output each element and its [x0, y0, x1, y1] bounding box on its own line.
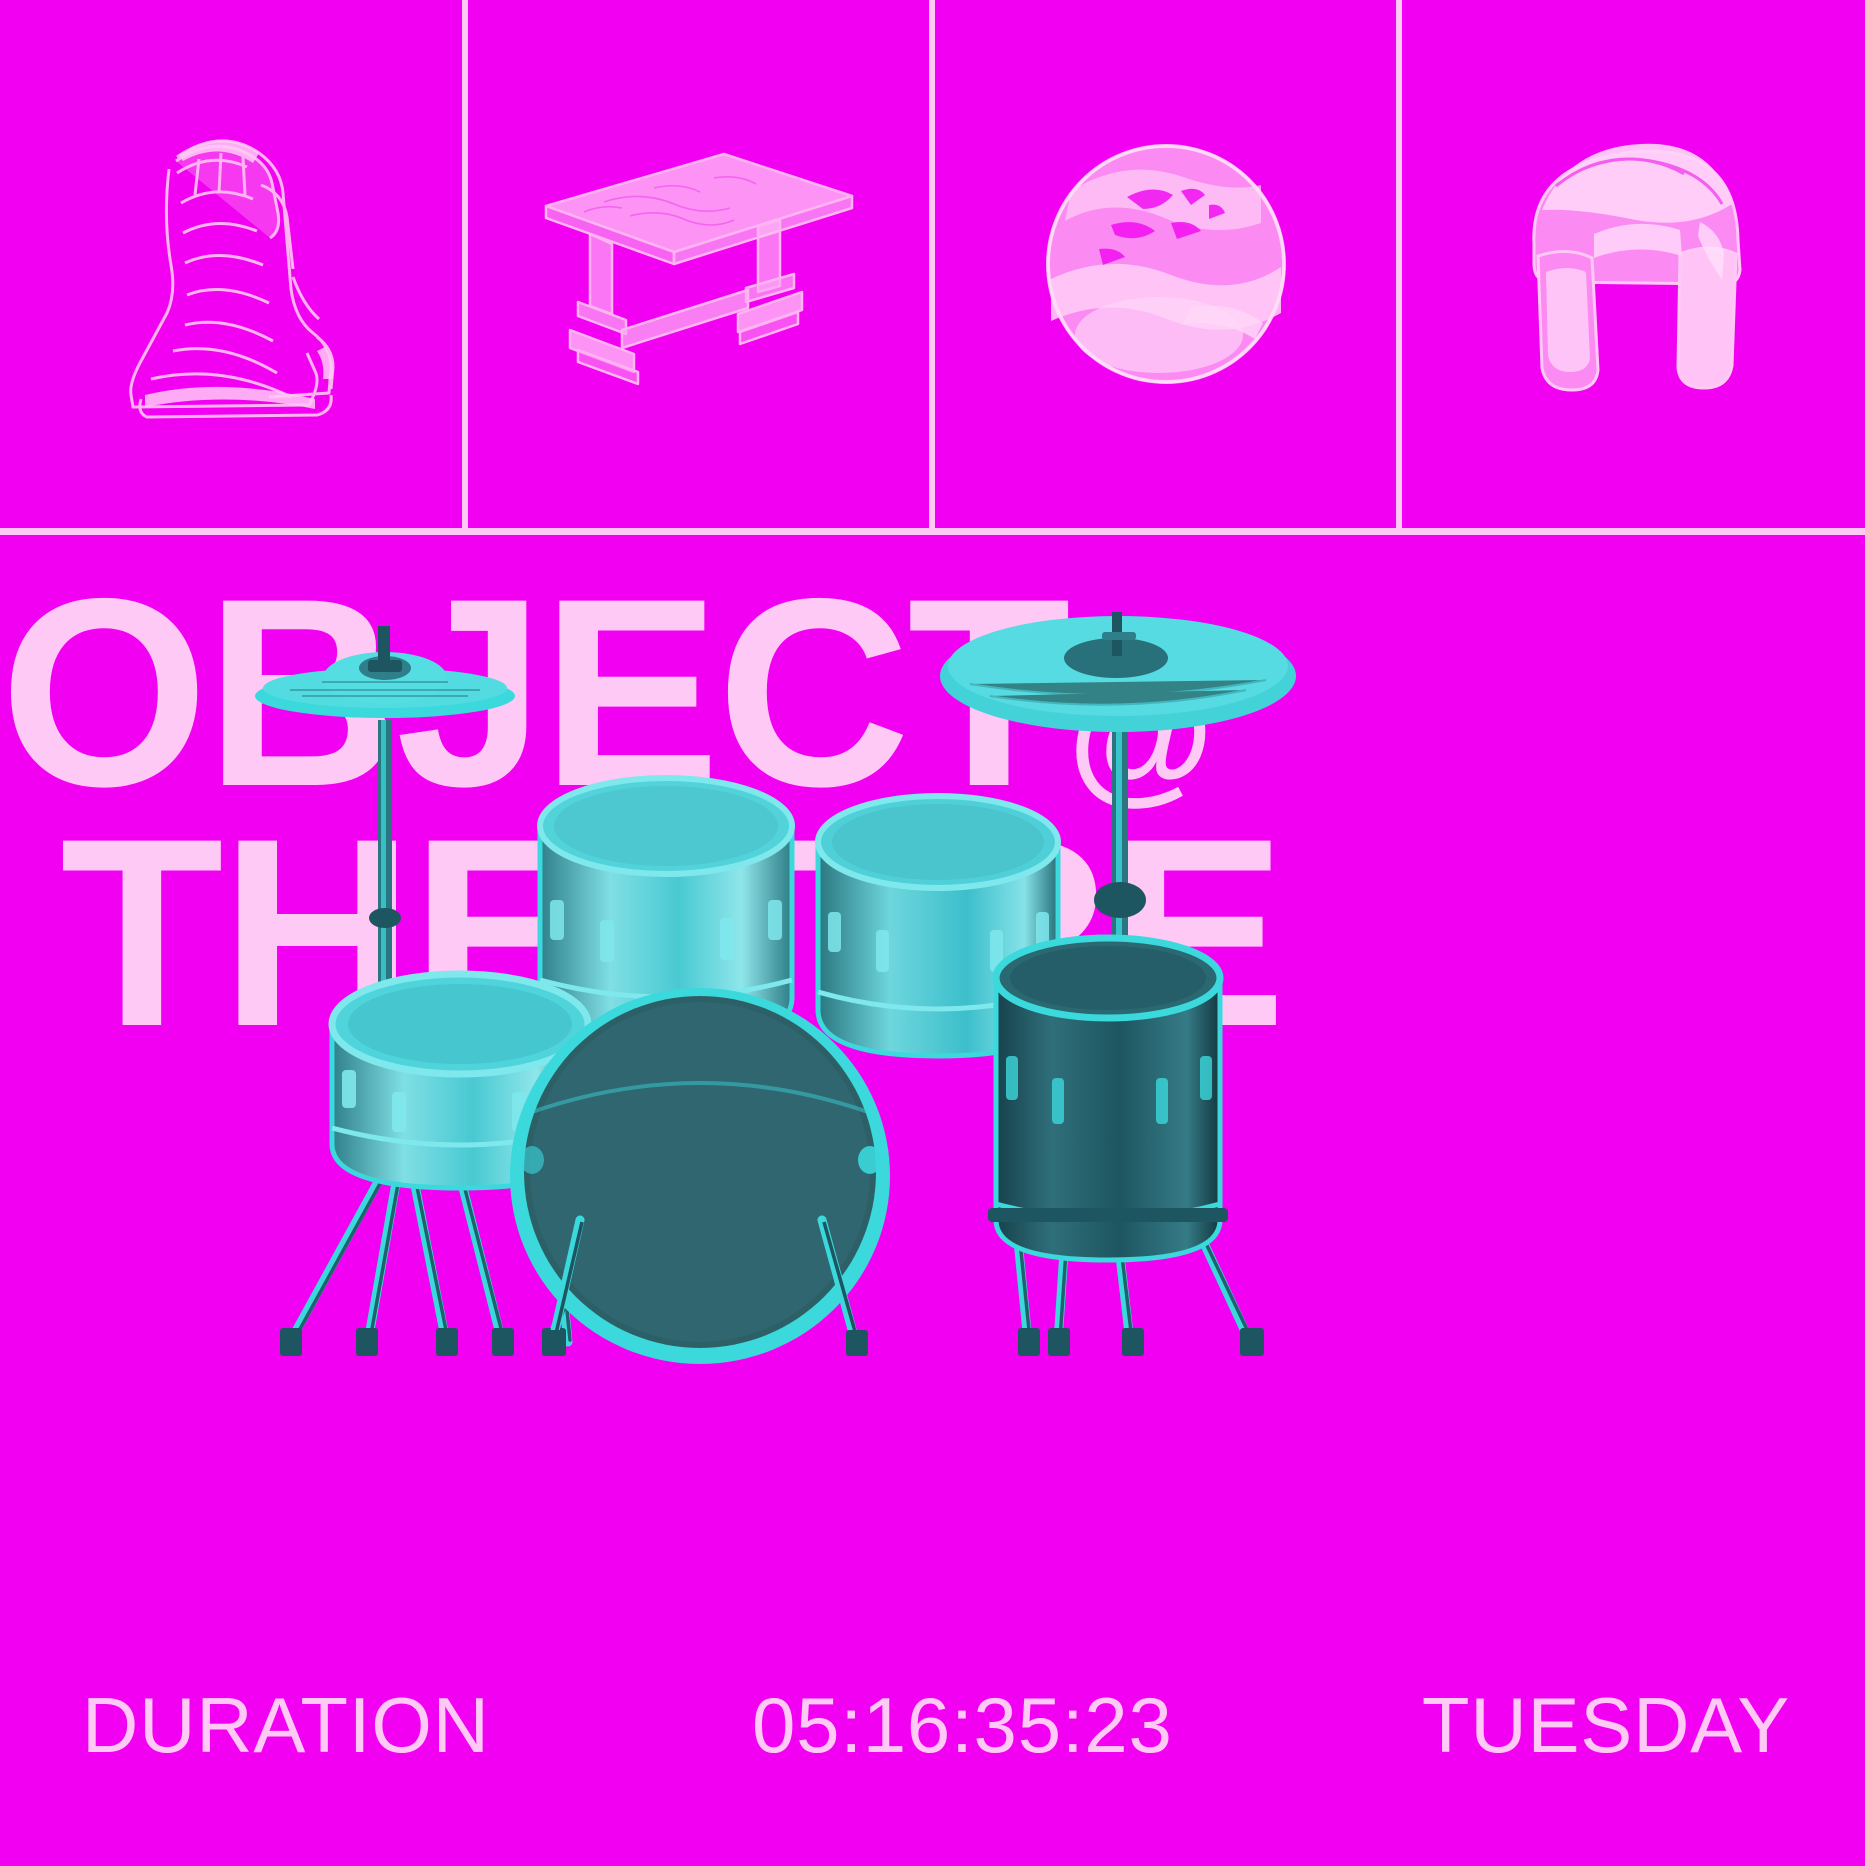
strip-divider-2 — [929, 0, 935, 528]
trestle-table-object-icon — [534, 134, 864, 394]
bass-drum — [510, 988, 890, 1364]
floor-tom — [988, 938, 1228, 1260]
boot-object-icon — [81, 99, 381, 429]
object-cell-boot[interactable] — [0, 0, 462, 528]
footer-day: TUESDAY — [1422, 1680, 1790, 1770]
strip-divider-3 — [1396, 0, 1402, 528]
poster-canvas: OBJECT@ THEATRE — [0, 0, 1865, 1866]
ushanka-hat-object-icon — [1494, 114, 1774, 414]
globe-object-icon — [1041, 139, 1291, 389]
footer-timecode: 05:16:35:23 — [752, 1680, 1173, 1770]
object-cell-table[interactable] — [468, 0, 929, 528]
object-strip — [0, 0, 1865, 535]
object-cell-globe[interactable] — [935, 0, 1396, 528]
strip-divider-1 — [462, 0, 468, 528]
footer-duration-label: DURATION — [82, 1680, 490, 1770]
footer-bar: DURATION 05:16:35:23 TUESDAY — [0, 1680, 1865, 1810]
object-cell-hat[interactable] — [1402, 0, 1865, 528]
strip-divider-horizontal — [0, 528, 1865, 535]
drum-kit-artwork — [250, 600, 1310, 1400]
drum-kit-illustration — [250, 600, 1310, 1400]
